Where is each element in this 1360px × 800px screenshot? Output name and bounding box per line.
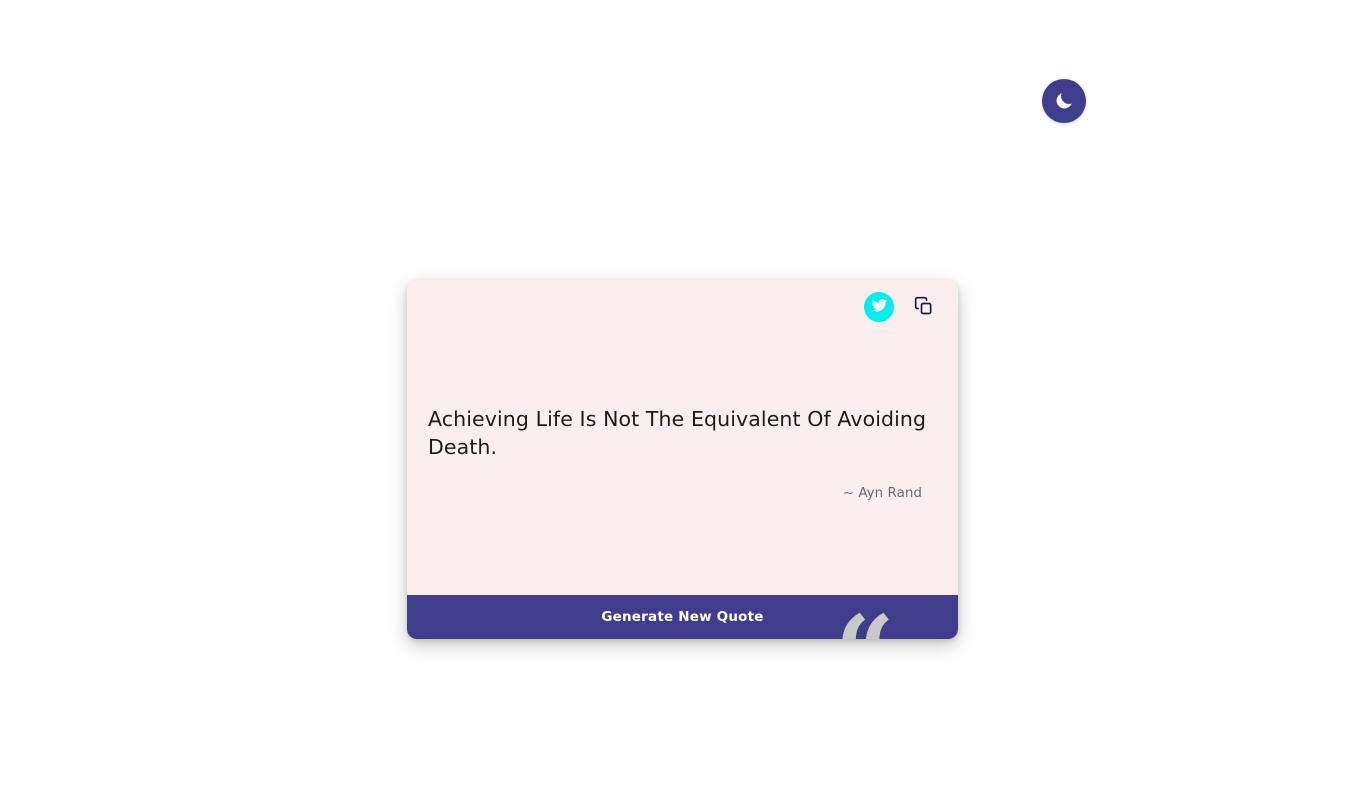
quote-block: Achieving Life Is Not The Equivalent Of … bbox=[428, 405, 933, 501]
quote-card-body: “ Achieving Life Is Not The Equivalent O… bbox=[407, 280, 958, 595]
moon-icon bbox=[1053, 90, 1075, 112]
quote-text: Achieving Life Is Not The Equivalent Of … bbox=[428, 405, 933, 461]
dark-mode-toggle[interactable] bbox=[1042, 79, 1086, 123]
quote-card: “ Achieving Life Is Not The Equivalent O… bbox=[407, 280, 958, 639]
tweet-quote-button[interactable] bbox=[864, 292, 894, 322]
twitter-bird-icon bbox=[871, 297, 888, 317]
copy-quote-button[interactable] bbox=[910, 293, 938, 321]
quote-card-actions bbox=[864, 292, 938, 322]
quote-author: ~ Ayn Rand bbox=[428, 485, 933, 501]
copy-icon bbox=[914, 296, 934, 319]
quote-mark-icon: “ bbox=[835, 602, 893, 639]
